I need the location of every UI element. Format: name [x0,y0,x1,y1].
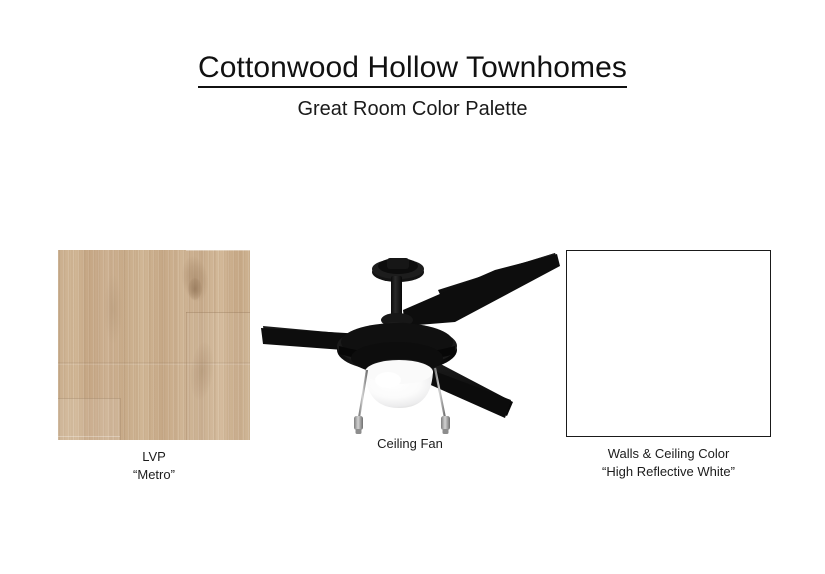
ceiling-fan-illustration [255,250,565,440]
paint-color-swatch [566,250,771,437]
wood-grain-knot-icon [188,278,202,300]
lvp-caption-line-1: LVP [58,448,250,466]
lvp-wood-swatch [58,250,250,440]
ceiling-fan-image [255,250,565,440]
lvp-caption-line-2: “Metro” [58,466,250,484]
lvp-caption: LVP “Metro” [58,448,250,485]
paint-caption-line-1: Walls & Ceiling Color [566,445,771,463]
wood-grain-knot-icon [104,274,122,344]
palette-item-ceiling-fan: Ceiling Fan [255,250,565,453]
paint-caption-line-2: “High Reflective White” [566,463,771,481]
palette-row: LVP “Metro” [0,250,825,490]
page-title: Cottonwood Hollow Townhomes [198,52,627,88]
fan-light-globe [365,359,433,408]
wood-plank-seam [120,398,121,440]
paint-caption: Walls & Ceiling Color “High Reflective W… [566,445,771,482]
fan-pull-chain-left [354,370,367,434]
wood-plank-seam [186,312,187,440]
wood-grain-knot-icon [188,341,216,401]
page-subtitle: Great Room Color Palette [0,98,825,120]
palette-item-paint: Walls & Ceiling Color “High Reflective W… [566,250,771,482]
wood-plank-seam [58,398,120,399]
fan-downrod [391,276,402,318]
wood-grain-knot-icon [179,254,211,303]
document-header: Cottonwood Hollow Townhomes Great Room C… [0,52,825,120]
wood-plank-seam [186,250,250,251]
fan-blade-upper-right [403,253,560,326]
wood-plank-seam [186,312,250,313]
wood-plank-panel [187,313,250,440]
wood-plank-seam [58,436,120,437]
palette-item-lvp: LVP “Metro” [58,250,250,485]
wood-plank-panel [58,398,120,440]
